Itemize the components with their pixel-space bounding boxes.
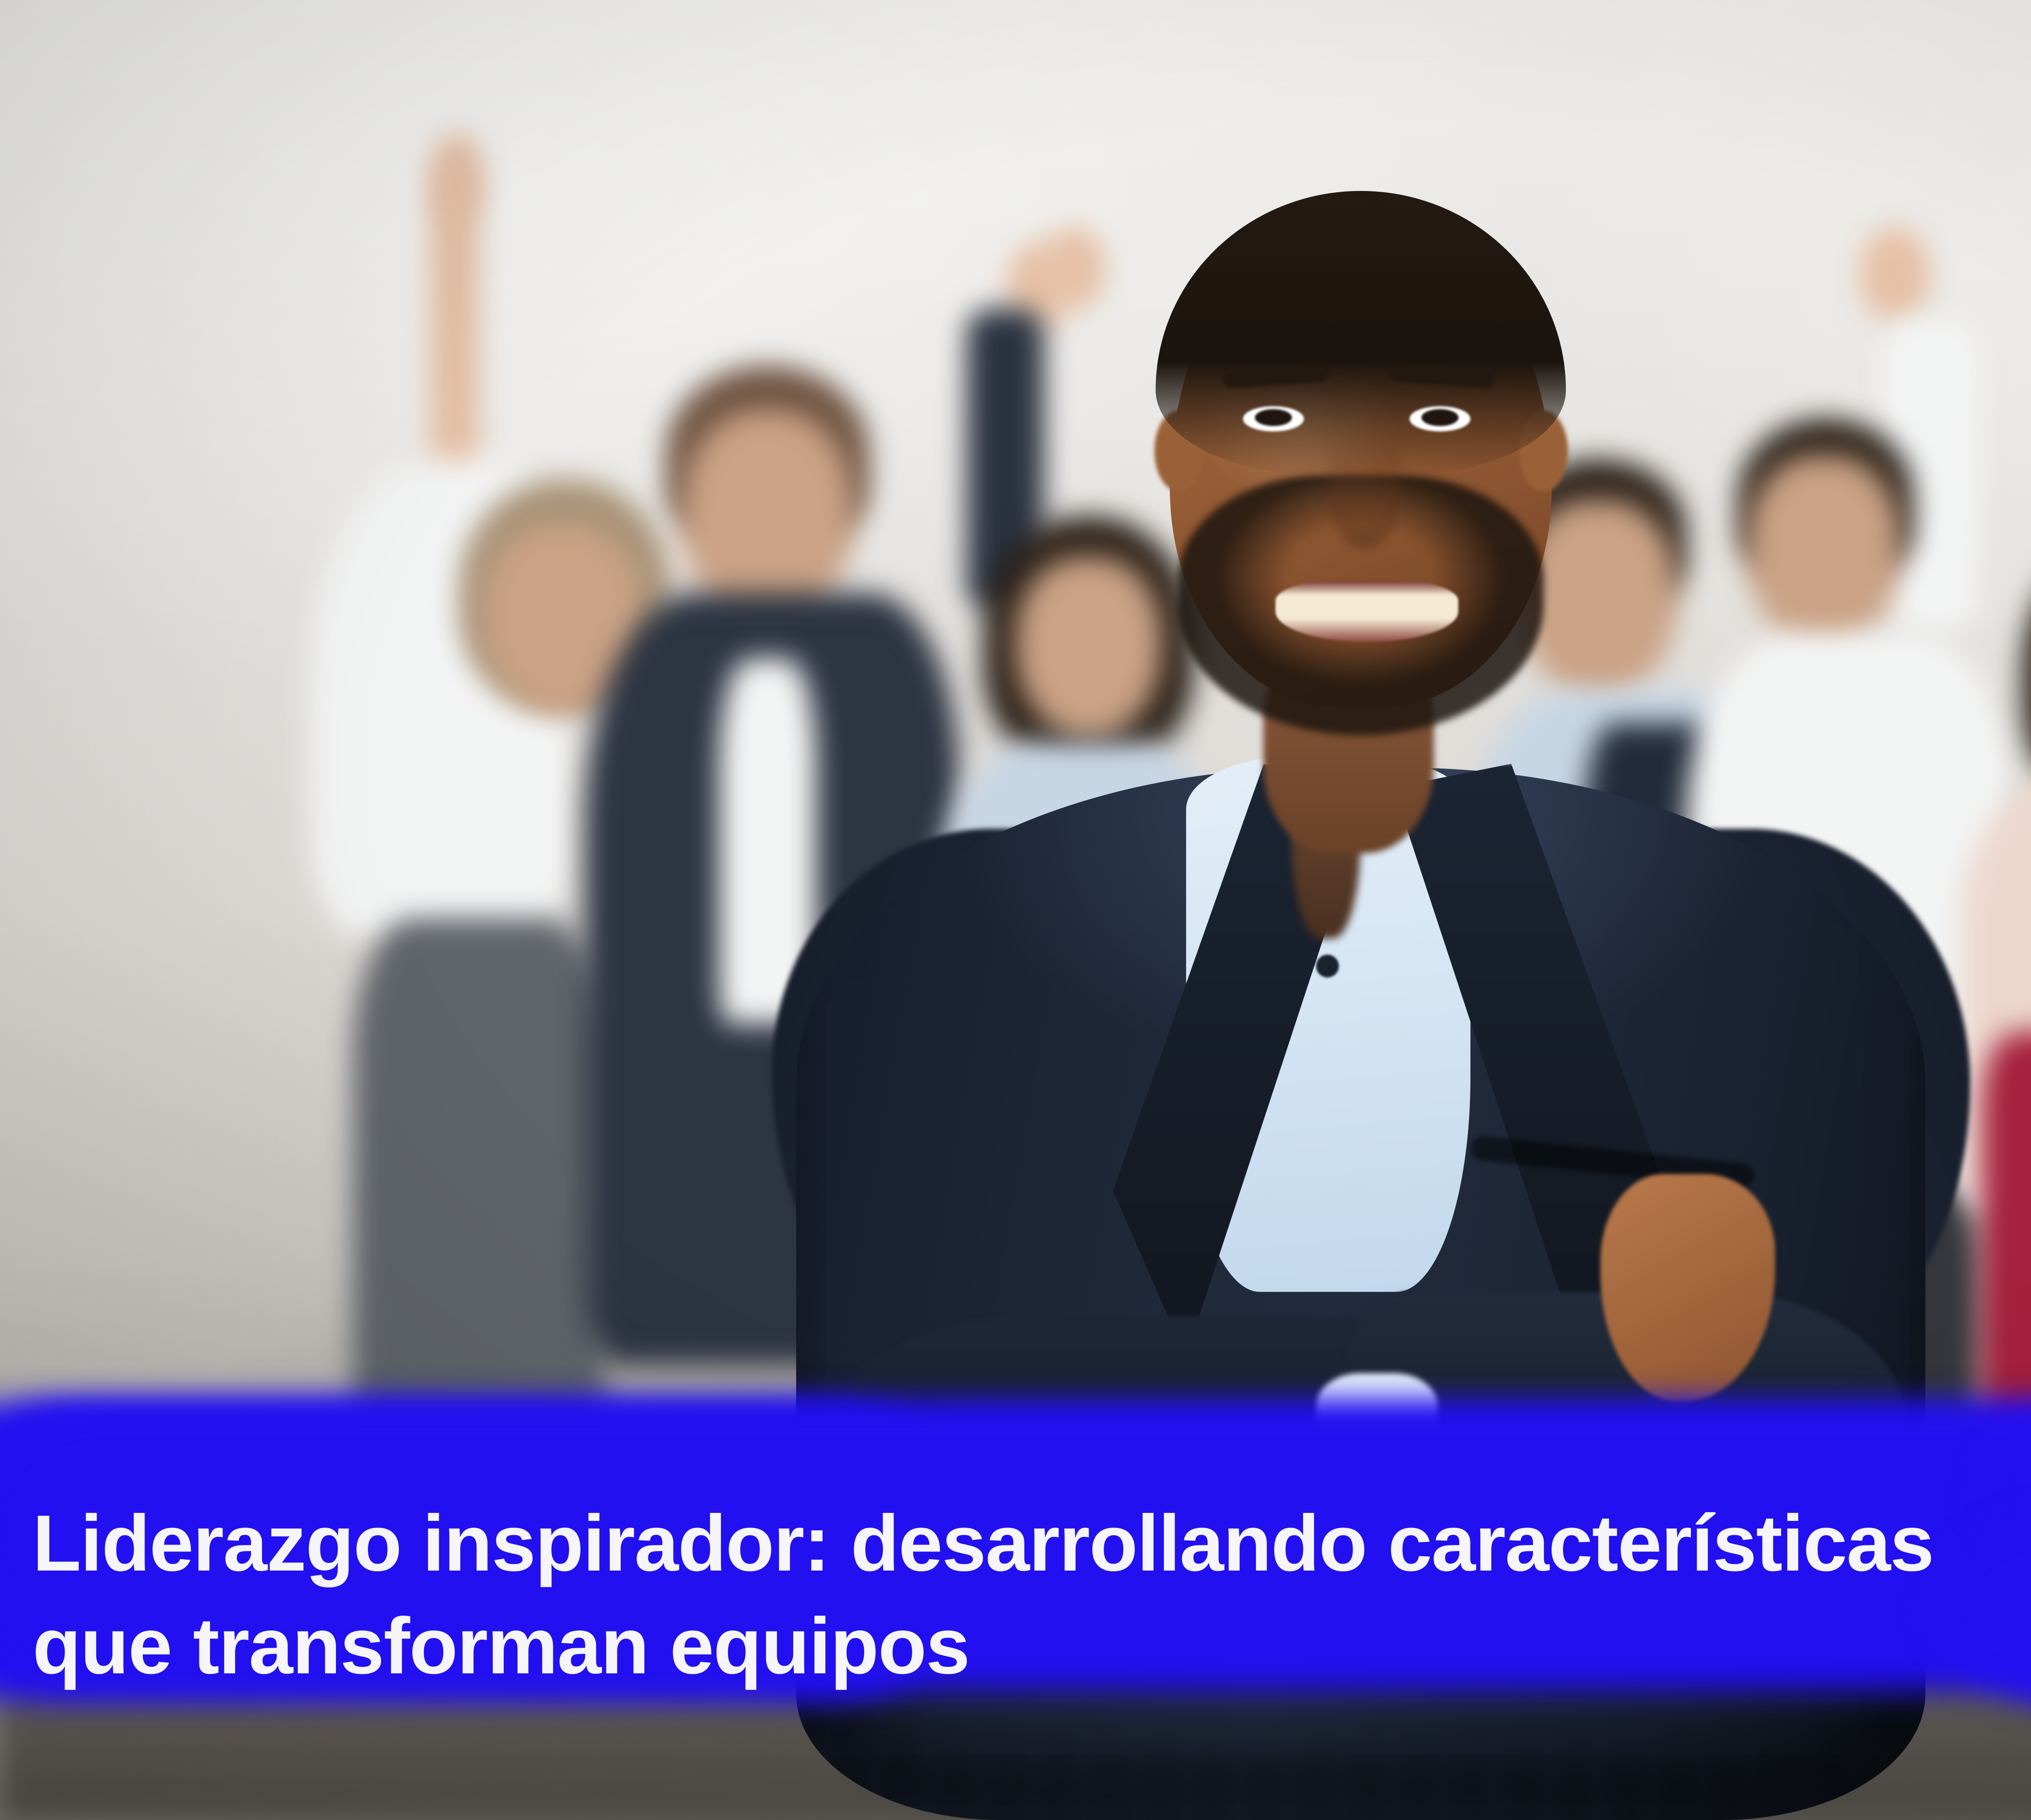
page-title: Liderazgo inspirador: desarrollando cara…: [32, 1492, 2031, 1698]
header-image-canvas: Liderazgo inspirador: desarrollando cara…: [0, 0, 2031, 1820]
title-highlight-banner: Liderazgo inspirador: desarrollando cara…: [0, 1381, 2031, 1706]
